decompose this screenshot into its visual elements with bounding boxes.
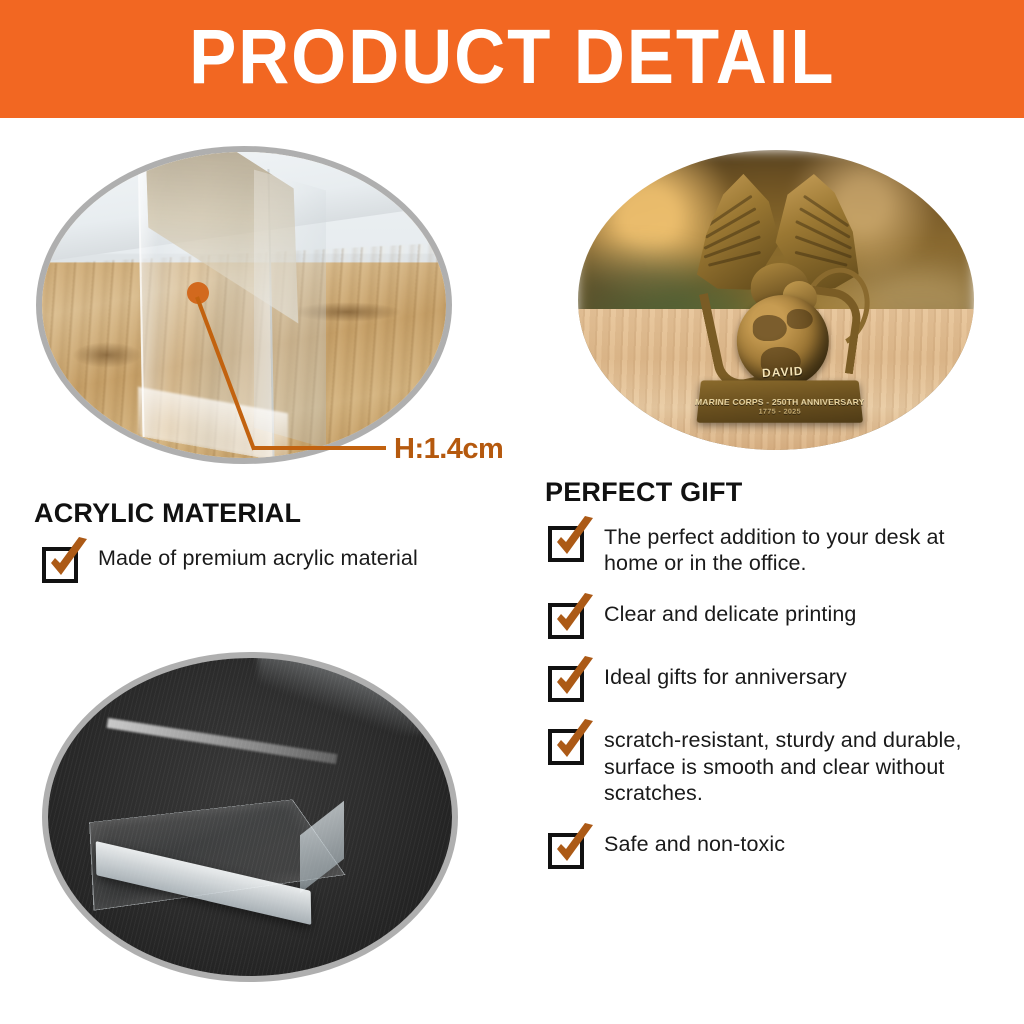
list-item: Clear and delicate printing xyxy=(548,601,1000,639)
list-item-label: Made of premium acrylic material xyxy=(98,545,418,571)
list-item-label: Safe and non-toxic xyxy=(604,831,785,857)
slate-edge-highlight xyxy=(258,658,452,734)
list-item-label: scratch-resistant, sturdy and durable, s… xyxy=(604,727,1000,806)
perfect-gift-feature-list: The perfect addition to your desk at hom… xyxy=(548,524,1000,894)
acrylic-edge-photo xyxy=(42,152,446,458)
measurement-callout-leader-horizontal xyxy=(253,446,386,450)
checkbox-icon xyxy=(548,666,584,702)
personalized-name: DAVID xyxy=(762,364,804,380)
list-item: The perfect addition to your desk at hom… xyxy=(548,524,1000,576)
list-item: scratch-resistant, sturdy and durable, s… xyxy=(548,727,1000,806)
list-item: Safe and non-toxic xyxy=(548,831,1000,869)
plaque-years: 1775 - 2025 xyxy=(759,409,802,416)
acrylic-block-second-face xyxy=(254,170,326,449)
acrylic-material-feature-list: Made of premium acrylic material xyxy=(42,545,512,583)
trophy-base: MARINE CORPS - 250TH ANNIVERSARY 1775 - … xyxy=(697,380,864,422)
list-item: Ideal gifts for anniversary xyxy=(548,664,1000,702)
list-item: Made of premium acrylic material xyxy=(42,545,512,583)
header-banner: PRODUCT DETAIL xyxy=(0,0,1024,118)
checkbox-icon xyxy=(548,603,584,639)
wood-knot xyxy=(72,342,142,368)
height-measurement-label: H:1.4cm xyxy=(394,433,503,466)
checkbox-icon xyxy=(548,833,584,869)
page-title: PRODUCT DETAIL xyxy=(189,19,835,100)
perfect-gift-heading: PERFECT GIFT xyxy=(545,477,742,508)
list-item-label: Ideal gifts for anniversary xyxy=(604,664,847,690)
eagle-globe-anchor-statue: DAVID MARINE CORPS - 250TH ANNIVERSARY 1… xyxy=(685,183,875,423)
checkbox-icon xyxy=(548,526,584,562)
acrylic-material-heading: ACRYLIC MATERIAL xyxy=(34,498,301,529)
trophy-photo: DAVID MARINE CORPS - 250TH ANNIVERSARY 1… xyxy=(578,150,974,450)
globe: DAVID xyxy=(737,295,829,387)
list-item-label: Clear and delicate printing xyxy=(604,601,857,627)
plaque-title: MARINE CORPS - 250TH ANNIVERSARY xyxy=(695,397,865,407)
checkbox-icon xyxy=(548,729,584,765)
list-item-label: The perfect addition to your desk at hom… xyxy=(604,524,1000,576)
acrylic-block-photo xyxy=(48,658,452,976)
checkbox-icon xyxy=(42,547,78,583)
